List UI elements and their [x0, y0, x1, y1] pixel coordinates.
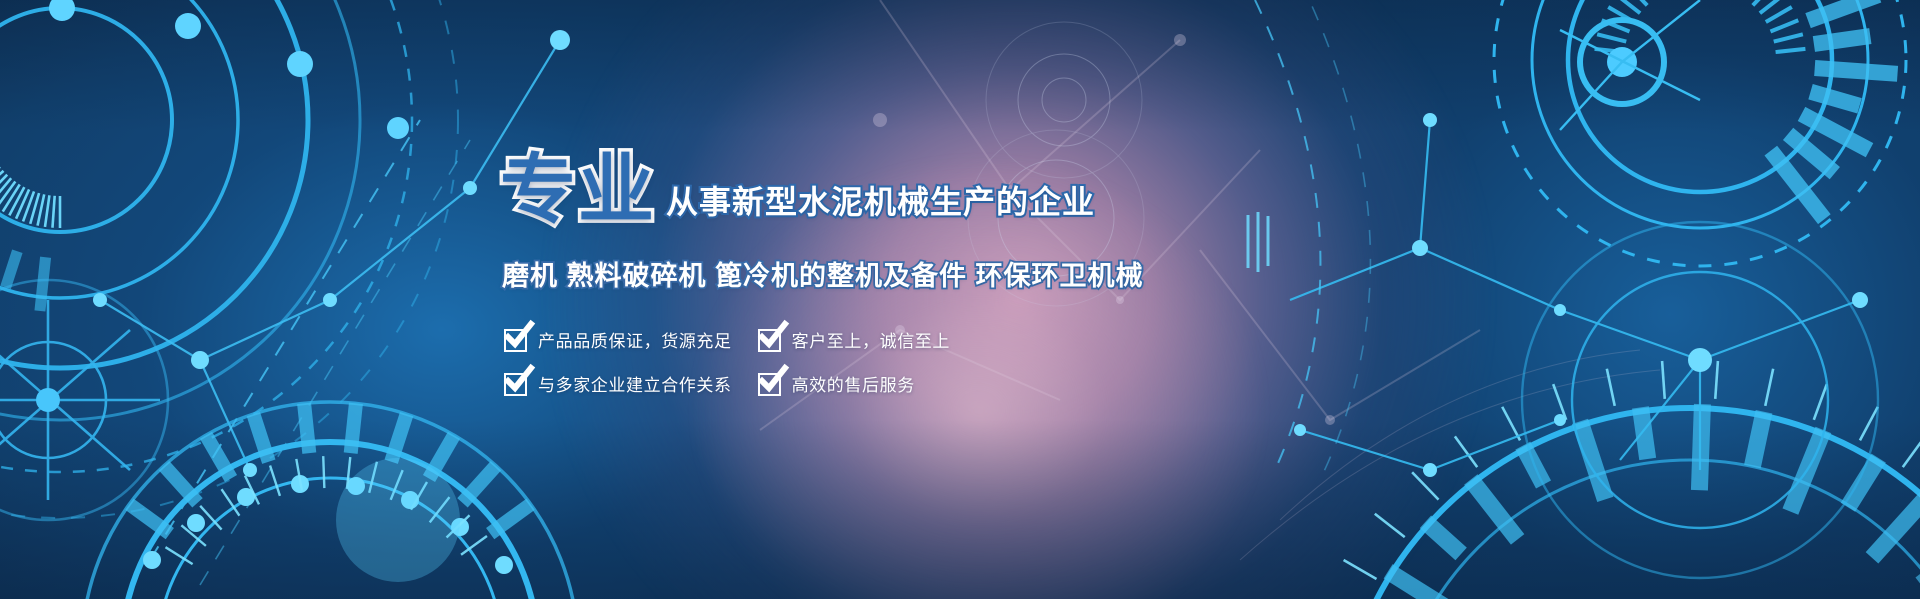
checkbox-checked-icon [504, 371, 529, 396]
product-line-text: 磨机 熟料破碎机 篦冷机的整机及备件 环保环卫机械 [502, 254, 1216, 293]
feature-row: 产品品质保证，货源充足 客户至上，诚信至上 [504, 327, 974, 352]
feature-label: 与多家企业建立合作关系 [538, 371, 732, 396]
feature-label: 客户至上，诚信至上 [792, 327, 950, 352]
feature-item: 高效的售后服务 [758, 371, 915, 396]
checkbox-checked-icon [758, 371, 783, 396]
headline: 专业 从事新型水泥机械生产的企业 [500, 150, 1216, 228]
checkbox-checked-icon [758, 327, 783, 352]
headline-emphasis: 专业 [500, 154, 656, 228]
feature-label: 产品品质保证，货源充足 [538, 327, 732, 352]
feature-item: 产品品质保证，货源充足 [504, 327, 732, 352]
feature-label: 高效的售后服务 [792, 371, 915, 396]
headline-subtitle: 从事新型水泥机械生产的企业 [666, 177, 1095, 228]
hero-banner: 专业 从事新型水泥机械生产的企业 磨机 熟料破碎机 篦冷机的整机及备件 环保环卫… [0, 0, 1920, 599]
feature-item: 与多家企业建立合作关系 [504, 371, 732, 396]
feature-list: 产品品质保证，货源充足 客户至上，诚信至上 [504, 327, 974, 396]
feature-item: 客户至上，诚信至上 [758, 327, 950, 352]
checkbox-checked-icon [504, 327, 529, 352]
feature-row: 与多家企业建立合作关系 高效的售后服务 [504, 371, 974, 396]
banner-content: 专业 从事新型水泥机械生产的企业 磨机 熟料破碎机 篦冷机的整机及备件 环保环卫… [496, 150, 1216, 415]
